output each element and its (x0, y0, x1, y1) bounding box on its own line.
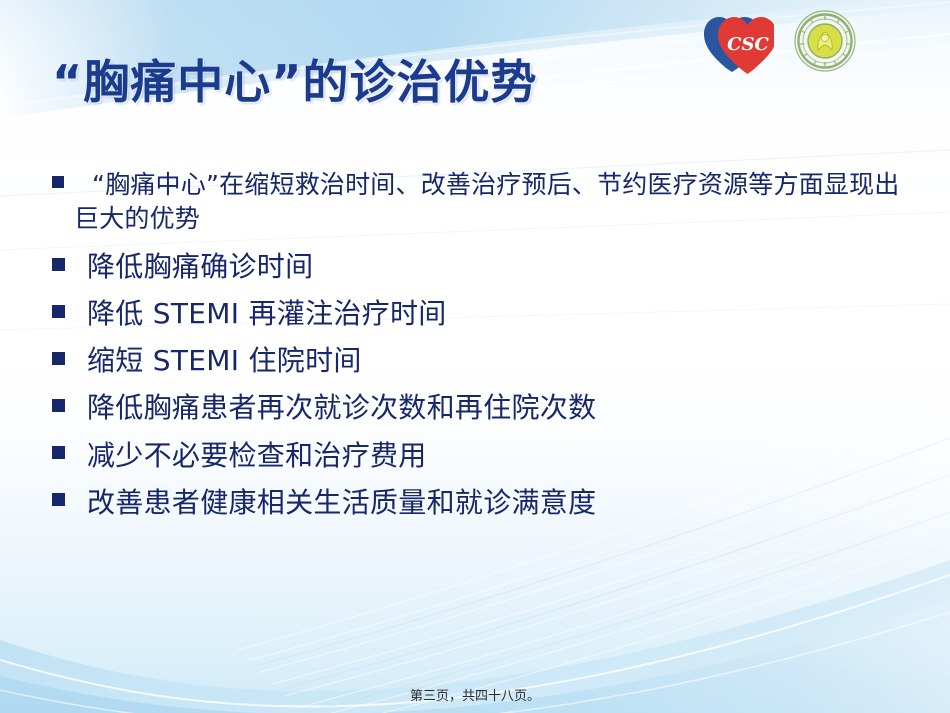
bullet-square-icon (52, 446, 65, 459)
list-item: 改善患者健康相关生活质量和就诊满意度 (52, 486, 912, 520)
list-item-text: “胸痛中心”在缩短救治时间、改善治疗预后、节约医疗资源等方面显现出巨大的优势 (74, 168, 912, 236)
csc-heart-logo: CSC (702, 8, 774, 74)
list-item: 缩短 STEMI 住院时间 (52, 344, 912, 378)
list-item-text: 减少不必要检查和治疗费用 (75, 439, 912, 473)
bullet-list: “胸痛中心”在缩短救治时间、改善治疗预后、节约医疗资源等方面显现出巨大的优势 降… (52, 168, 912, 533)
list-item: 降低胸痛患者再次就诊次数和再住院次数 (52, 391, 912, 425)
list-item: 减少不必要检查和治疗费用 (52, 439, 912, 473)
list-item: 降低 STEMI 再灌注治疗时间 (52, 297, 912, 331)
slide-title: “胸痛中心”的诊治优势 (52, 58, 537, 106)
list-item-text: 降低 STEMI 再灌注治疗时间 (75, 297, 912, 331)
society-emblem-logo (790, 8, 860, 74)
bullet-square-icon (52, 258, 65, 271)
bullet-square-icon (52, 493, 65, 506)
presentation-slide: CSC (0, 0, 950, 713)
list-item: 降低胸痛确诊时间 (52, 250, 912, 284)
bullet-square-icon (52, 352, 65, 365)
list-item-text: 改善患者健康相关生活质量和就诊满意度 (75, 486, 912, 520)
csc-logo-text: CSC (727, 34, 769, 55)
list-item-text: 缩短 STEMI 住院时间 (75, 344, 912, 378)
bullet-square-icon (52, 176, 64, 188)
list-item-text: 降低胸痛患者再次就诊次数和再住院次数 (75, 391, 912, 425)
list-item-text: 降低胸痛确诊时间 (75, 250, 912, 284)
page-number-footer: 第三页，共四十八页。 (0, 685, 950, 704)
list-item: “胸痛中心”在缩短救治时间、改善治疗预后、节约医疗资源等方面显现出巨大的优势 (52, 168, 912, 236)
bullet-square-icon (52, 399, 65, 412)
bullet-square-icon (52, 305, 65, 318)
logo-group: CSC (702, 8, 860, 74)
